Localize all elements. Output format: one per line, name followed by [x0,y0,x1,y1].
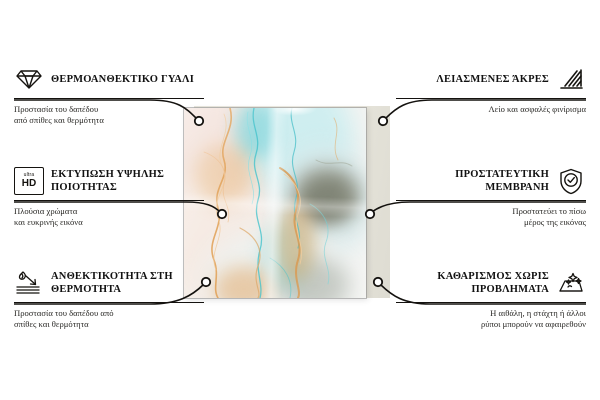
feature-description: Πλούσια χρώματα και ευκρινής εικόνα [14,206,204,229]
desc-line-1: Προστασία του δαπέδου από [14,308,204,319]
desc-line-1: Λείο και ασφαλές φινίρισμα [396,104,586,115]
feature-protective-membrane: ΠΡΟΣΤΑΤΕΥΤΙΚΗ ΜΕΜΒΡΑΝΗ Προστατεύει το πί… [396,166,586,229]
desc-line-2: από σπίθες και θερμότητα [14,115,204,126]
desc-line-1: Η αιθάλη, η στάχτη ή άλλοι [396,308,586,319]
ultra-hd-badge-icon: ultra HD [14,166,44,196]
feature-description: Προστασία του δαπέδου από σπίθες και θερ… [14,308,204,331]
divider [396,302,586,303]
badge-text-hd: HD [22,179,36,189]
infographic-stage: ΘΕΡΜΟΑΝΘΕΚΤΙΚΟ ΓΥΑΛΙ Προστασία του δαπέδ… [0,0,600,400]
flame-deflect-icon [14,268,44,298]
glass-gloss [184,108,366,298]
feature-title: ΠΡΟΣΤΑΤΕΥΤΙΚΗ ΜΕΜΒΡΑΝΗ [396,168,549,194]
feature-title: ΕΚΤΥΠΩΣΗ ΥΨΗΛΗΣ ΠΟΙΟΤΗΤΑΣ [51,168,204,194]
feature-description: Προστατεύει το πίσω μέρος της εικόνας [396,206,586,229]
feature-description: Προστασία του δαπέδου από σπίθες και θερ… [14,104,204,127]
desc-line-1: Πλούσια χρώματα [14,206,204,217]
feature-title: ΘΕΡΜΟΑΝΘΕΚΤΙΚΟ ΓΥΑΛΙ [51,73,204,86]
feature-title: ΛΕΙΑΣΜΕΝΕΣ ΆΚΡΕΣ [396,73,549,86]
diamond-icon [14,64,44,94]
desc-line-2: ρύποι μπορούν να αφαιρεθούν [396,319,586,330]
feature-heat-resistant-glass: ΘΕΡΜΟΑΝΘΕΚΤΙΚΟ ΓΥΑΛΙ Προστασία του δαπέδ… [14,64,204,127]
feature-heat-durability: ΑΝΘΕΚΤΙΚΟΤΗΤΑ ΣΤΗ ΘΕΡΜΟΤΗΤΑ Προστασία το… [14,268,204,331]
desc-line-2: μέρος της εικόνας [396,217,586,228]
feature-high-quality-print: ultra HD ΕΚΤΥΠΩΣΗ ΥΨΗΛΗΣ ΠΟΙΟΤΗΤΑΣ Πλούσ… [14,166,204,229]
polished-edge-icon [556,64,586,94]
desc-line-1: Προστασία του δαπέδου [14,104,204,115]
divider [14,200,204,201]
feature-description: Λείο και ασφαλές φινίρισμα [396,104,586,115]
desc-line-2: σπίθες και θερμότητα [14,319,204,330]
product-glass-front [184,108,366,298]
desc-line-2: και ευκρινής εικόνα [14,217,204,228]
shield-check-icon [556,166,586,196]
feature-polished-edges: ΛΕΙΑΣΜΕΝΕΣ ΆΚΡΕΣ Λείο και ασφαλές φινίρι… [396,64,586,115]
desc-line-1: Προστατεύει το πίσω [396,206,586,217]
divider [14,302,204,303]
divider [14,98,204,99]
divider [396,200,586,201]
product-image [184,108,380,298]
feature-title: ΑΝΘΕΚΤΙΚΟΤΗΤΑ ΣΤΗ ΘΕΡΜΟΤΗΤΑ [51,270,204,296]
divider [396,98,586,99]
sponge-sparkle-icon [556,268,586,298]
feature-title: ΚΑΘΑΡΙΣΜΟΣ ΧΩΡΙΣ ΠΡΟΒΛΗΜΑΤΑ [396,270,549,296]
feature-easy-cleaning: ΚΑΘΑΡΙΣΜΟΣ ΧΩΡΙΣ ΠΡΟΒΛΗΜΑΤΑ Η αιθάλη, η … [396,268,586,331]
feature-description: Η αιθάλη, η στάχτη ή άλλοι ρύποι μπορούν… [396,308,586,331]
